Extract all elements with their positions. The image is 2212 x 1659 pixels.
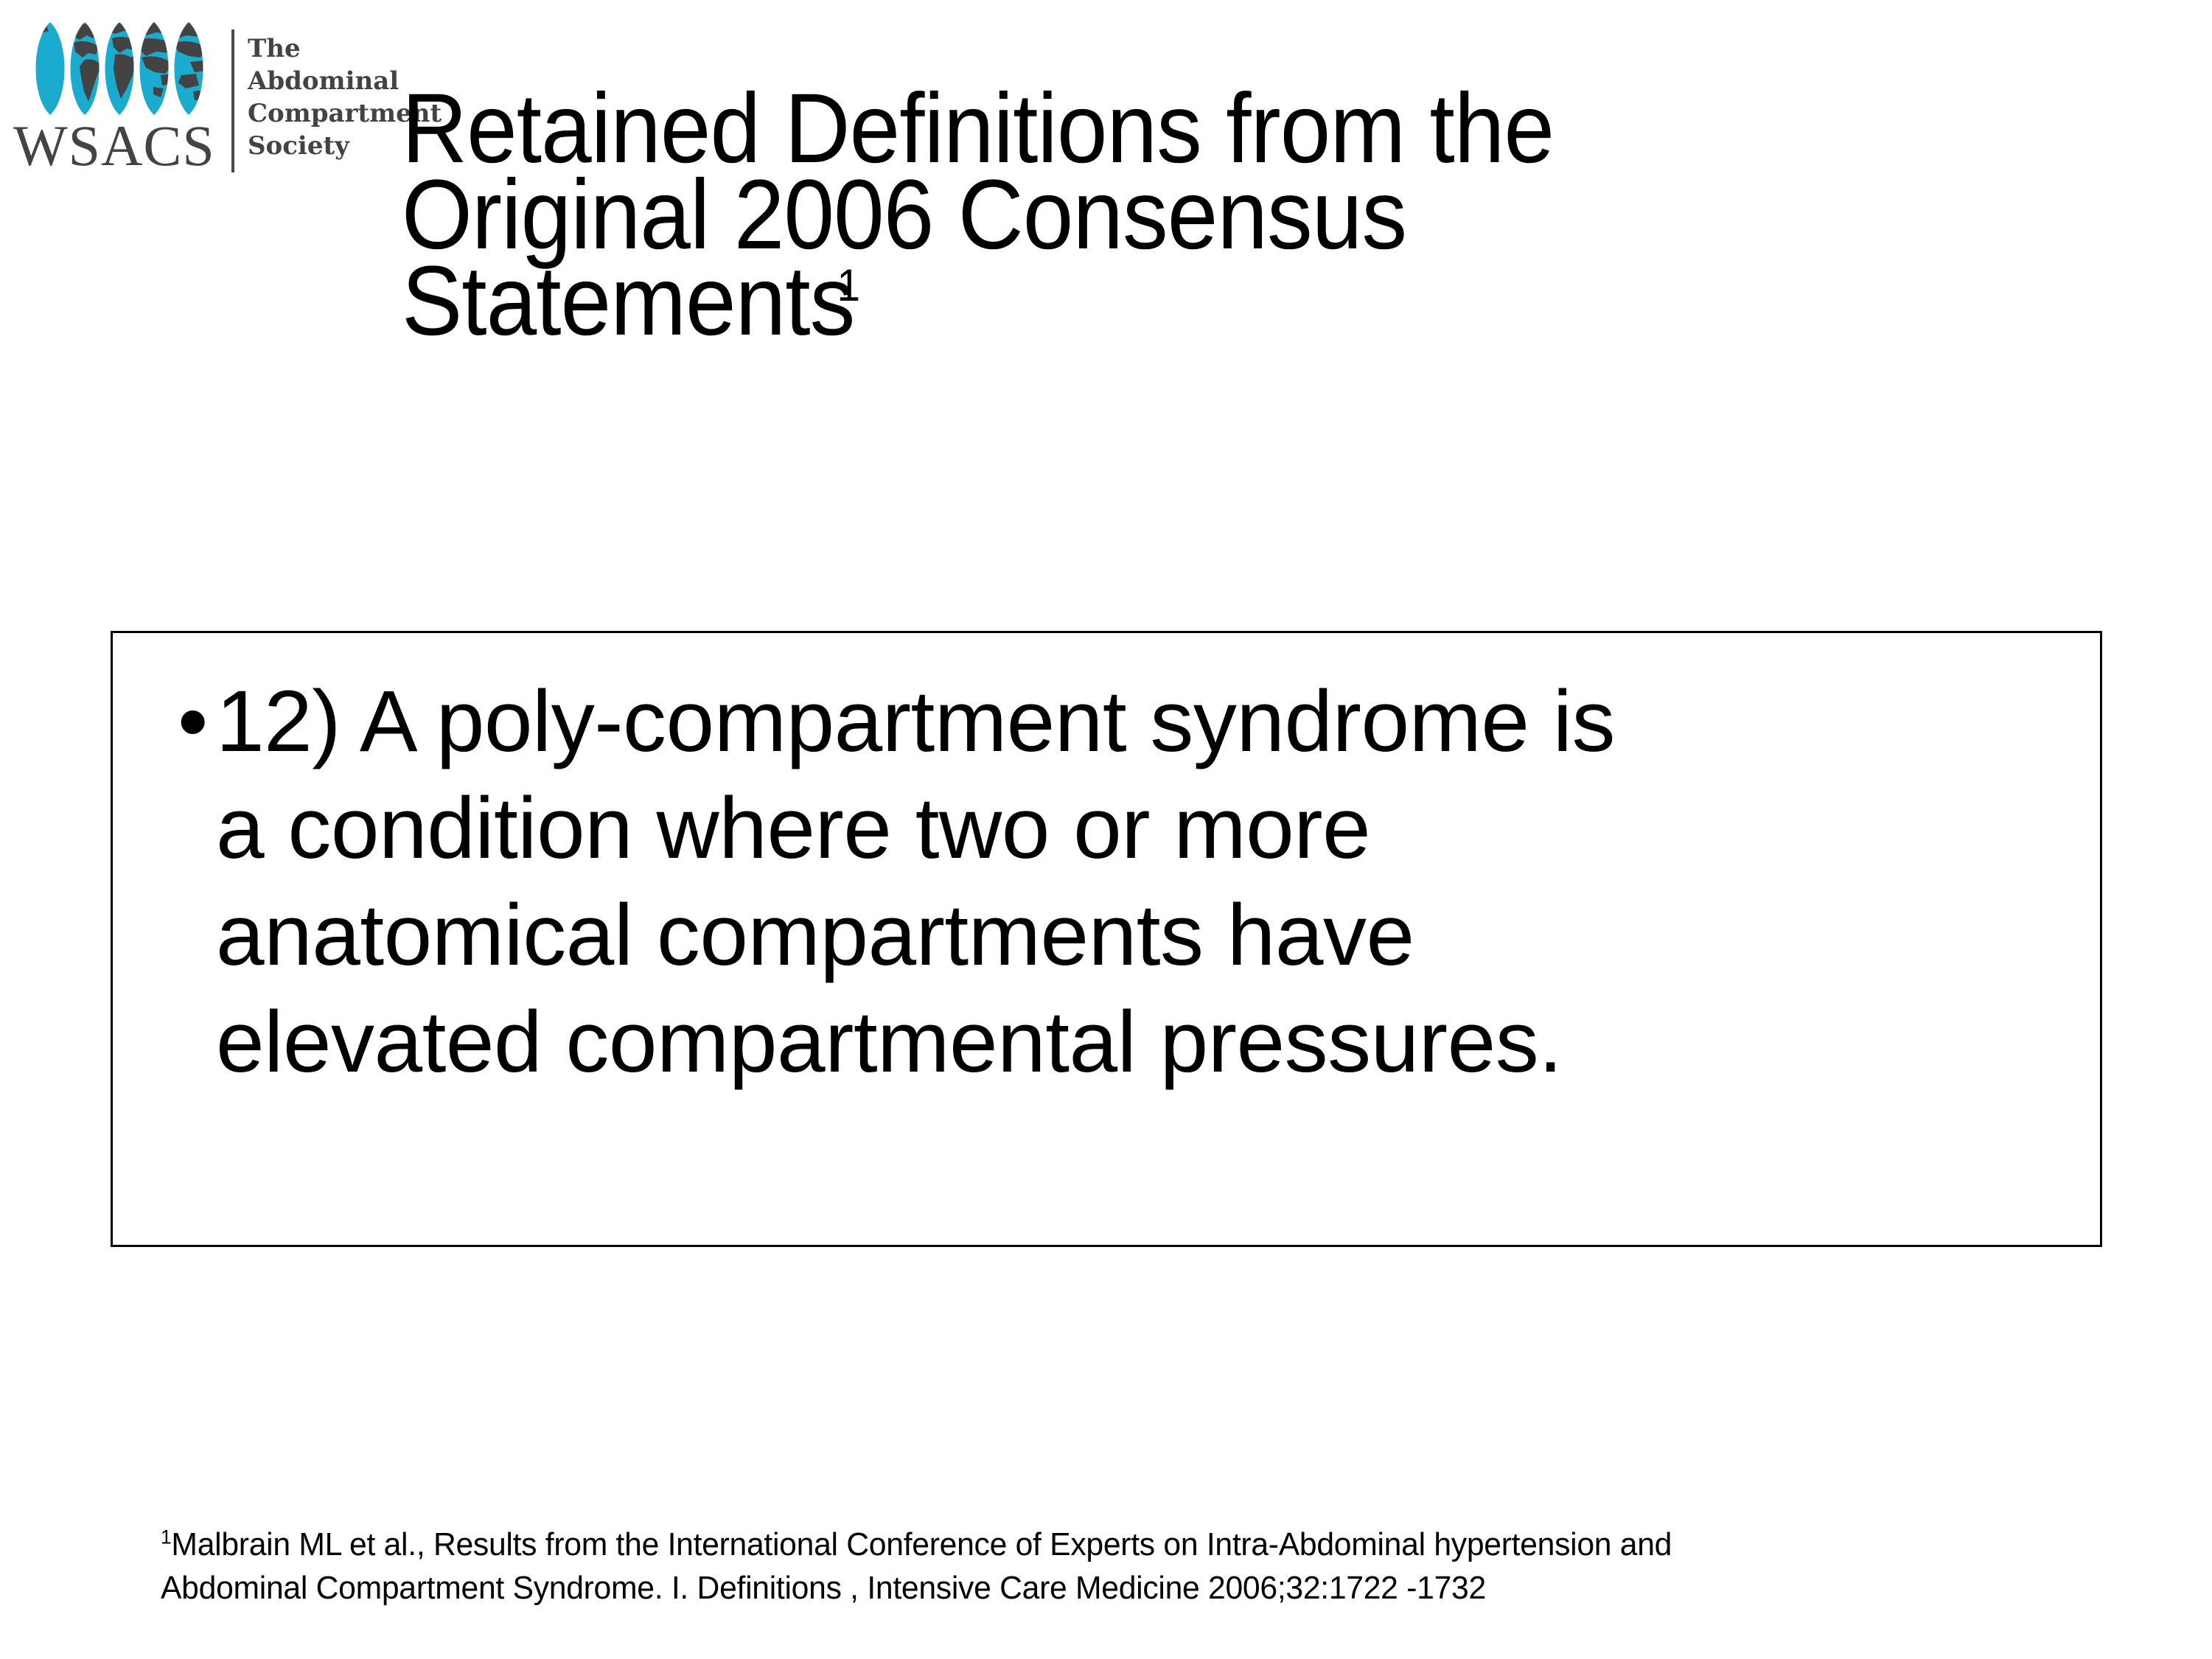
logo-divider bbox=[231, 29, 234, 172]
bullet-text: 12) A poly-compartment syndrome is a con… bbox=[216, 668, 2065, 1096]
footnote-citation: 1Malbrain ML et al., Results from the In… bbox=[161, 1523, 2062, 1610]
slide-title-footnote-marker: 1 bbox=[837, 260, 859, 311]
footnote-line-1: 1Malbrain ML et al., Results from the In… bbox=[161, 1523, 2062, 1566]
logo-tagline-line-1: The bbox=[248, 32, 402, 65]
bullet-line-2: a condition where two or more bbox=[216, 775, 2065, 882]
logo-tagline-line-4: Society bbox=[248, 130, 402, 162]
wsacs-logo: WSACS The Abdominal Compartment Society bbox=[10, 13, 408, 175]
bullet-line-1: 12) A poly-compartment syndrome is bbox=[216, 668, 2065, 775]
content-box: • 12) A poly-compartment syndrome is a c… bbox=[111, 631, 2102, 1247]
footnote-line-1-text: Malbrain ML et al., Results from the Int… bbox=[171, 1526, 1672, 1562]
bullet-line-4: elevated compartmental pressures. bbox=[216, 989, 2065, 1096]
bullet-line-3: anatomical compartments have bbox=[216, 882, 2065, 989]
footnote-marker: 1 bbox=[161, 1525, 171, 1548]
bullet-list: • 12) A poly-compartment syndrome is a c… bbox=[178, 668, 2065, 1096]
footnote-line-2: Abdominal Compartment Syndrome. I. Defin… bbox=[161, 1566, 2062, 1610]
slide-title-line-3-text: Statements bbox=[402, 246, 854, 356]
list-item: • 12) A poly-compartment syndrome is a c… bbox=[178, 668, 2065, 1096]
slide-title-line-2: Original 2006 Consensus bbox=[402, 172, 1961, 258]
slide-title: Retained Definitions from the Original 2… bbox=[402, 85, 1961, 344]
logo-tagline: The Abdominal Compartment Society bbox=[248, 32, 402, 162]
slide-title-line-3: Statements1 bbox=[402, 258, 1961, 344]
wsacs-wordmark: WSACS bbox=[13, 115, 227, 177]
logo-tagline-line-2: Abdominal bbox=[248, 65, 402, 97]
wsacs-globe-icon bbox=[16, 21, 221, 116]
bullet-point-icon: • bbox=[178, 668, 208, 775]
logo-tagline-line-3: Compartment bbox=[248, 97, 402, 130]
slide-title-line-1: Retained Definitions from the bbox=[402, 85, 1961, 172]
